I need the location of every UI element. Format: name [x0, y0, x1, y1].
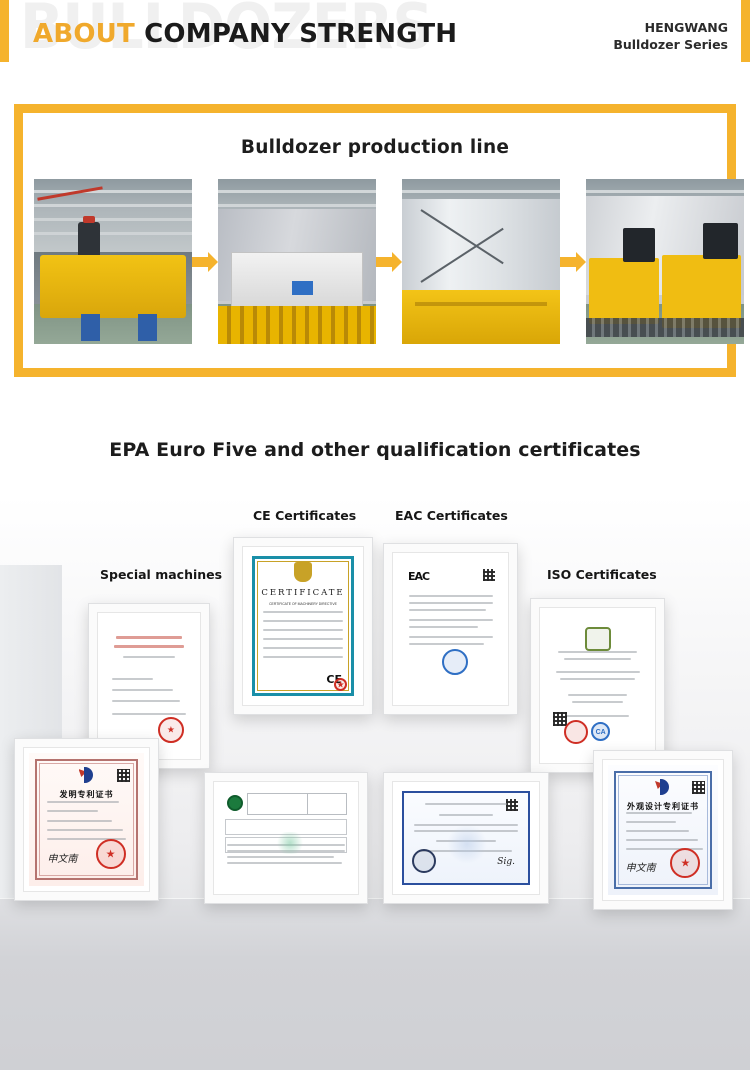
finished-units-photo — [586, 179, 744, 344]
certificate-frame-iso[interactable]: CA — [530, 598, 665, 773]
engine-frame — [40, 255, 185, 318]
ce-certificate-paper: CERTIFICATE CERTIFICATE OF MACHINERY DIR… — [248, 552, 358, 700]
epa-header-grid — [247, 793, 347, 815]
tov-watermark — [447, 824, 487, 864]
epa-certificate-paper — [219, 787, 353, 889]
bulldozer-unit-1 — [589, 258, 659, 324]
iso-certificate-paper: CA — [545, 613, 650, 758]
qr-code-icon — [692, 781, 705, 794]
certificate-frame-patent-invention[interactable]: 发明专利证书 申文南 — [14, 738, 159, 901]
production-line-section: Bulldozer production line — [14, 104, 736, 377]
certificate-frame-eac[interactable]: EAC — [383, 543, 518, 715]
iso-crest-icon — [585, 627, 611, 651]
label-ce: CE Certificates — [253, 508, 356, 523]
production-line-title: Bulldozer production line — [23, 137, 727, 158]
header-accent-bar-right — [741, 0, 750, 62]
page-header: BULLDOZERS ABOUT COMPANY STRENGTH HENGWA… — [0, 0, 750, 88]
next-step-arrow-3 — [560, 252, 586, 272]
signature: 申文南 — [47, 850, 77, 865]
cnipa-logo-icon — [655, 779, 671, 795]
frame-mat: 外观设计专利证书 申文南 — [602, 759, 724, 901]
production-steps-row — [32, 179, 718, 344]
eac-certificate-paper: EAC — [398, 558, 503, 700]
stage-floor — [0, 898, 750, 1070]
track-chain — [586, 318, 744, 338]
signature: 申文南 — [626, 859, 656, 874]
certificate-frame-tov[interactable]: Sig. — [383, 772, 549, 904]
paint-booth — [231, 252, 364, 308]
label-iso: ISO Certificates — [547, 567, 657, 582]
bulldozer-unit-2 — [662, 255, 741, 328]
support-stand-left — [81, 314, 100, 340]
next-step-arrow-1 — [192, 252, 218, 272]
special-machines-paper — [103, 618, 195, 754]
header-accent-bar-left — [0, 0, 9, 62]
certificate-frame-epa[interactable] — [204, 772, 368, 904]
dozer-blade — [402, 290, 560, 344]
signature: Sig. — [497, 857, 515, 867]
next-step-arrow-2 — [376, 252, 402, 272]
patent-title: 外观设计专利证书 — [608, 801, 718, 812]
track-rollers — [218, 306, 376, 344]
certificate-frame-ce[interactable]: CERTIFICATE CERTIFICATE OF MACHINERY DIR… — [233, 537, 373, 715]
tov-round-seal-icon — [412, 849, 436, 873]
eac-mark: EAC — [408, 570, 429, 583]
ce-title: CERTIFICATE — [248, 588, 358, 598]
brand-series: Bulldozer Series — [613, 37, 728, 54]
blade-welding-photo — [402, 179, 560, 344]
eac-blue-stamp-icon — [442, 649, 468, 675]
brand-block: HENGWANG Bulldozer Series — [613, 20, 728, 54]
epa-hologram — [275, 832, 305, 854]
certificates-display-stage: Special machines CE Certificates EAC Cer… — [0, 495, 750, 1070]
cnipa-logo-icon — [79, 767, 95, 783]
page-title-accent: ABOUT — [33, 19, 135, 49]
iso-red-seal-icon — [564, 720, 588, 744]
page-title-rest: COMPANY STRENGTH — [144, 19, 457, 49]
frame-mat: EAC — [392, 552, 509, 706]
page-title: ABOUT COMPANY STRENGTH — [33, 19, 457, 49]
red-official-seal-icon — [96, 839, 126, 869]
frame-mat: CERTIFICATE CERTIFICATE OF MACHINERY DIR… — [242, 546, 364, 706]
patent-invention-paper: 发明专利证书 申文南 — [29, 753, 144, 886]
frame-mat: 发明专利证书 申文南 — [23, 747, 150, 892]
ce-crest-icon — [294, 562, 312, 582]
label-eac: EAC Certificates — [395, 508, 508, 523]
qr-code-icon — [483, 569, 495, 581]
frame-mat — [213, 781, 359, 895]
red-star-seal-icon — [158, 717, 184, 743]
label-special-machines: Special machines — [100, 567, 222, 582]
frame-mat: Sig. — [392, 781, 540, 895]
patent-title: 发明专利证书 — [29, 789, 144, 800]
frame-mat: CA — [539, 607, 656, 764]
engine-assembly-photo — [34, 179, 192, 344]
qr-code-icon — [506, 799, 518, 811]
tov-certificate-paper: Sig. — [398, 787, 534, 889]
brand-name: HENGWANG — [613, 20, 728, 37]
certificates-heading: EPA Euro Five and other qualification ce… — [0, 439, 750, 461]
support-stand-right — [138, 314, 157, 340]
iso-blue-seal-icon: CA — [591, 722, 610, 741]
ce-subtitle: CERTIFICATE OF MACHINERY DIRECTIVE — [248, 602, 358, 606]
appearance-patent-paper: 外观设计专利证书 申文南 — [608, 765, 718, 895]
epa-logo-icon — [227, 795, 243, 811]
qr-code-icon — [117, 769, 130, 782]
factory-roof — [34, 179, 192, 255]
paint-booth-photo — [218, 179, 376, 344]
certificate-frame-appearance-patent[interactable]: 外观设计专利证书 申文南 — [593, 750, 733, 910]
about-company-strength-page: BULLDOZERS ABOUT COMPANY STRENGTH HENGWA… — [0, 0, 750, 1091]
